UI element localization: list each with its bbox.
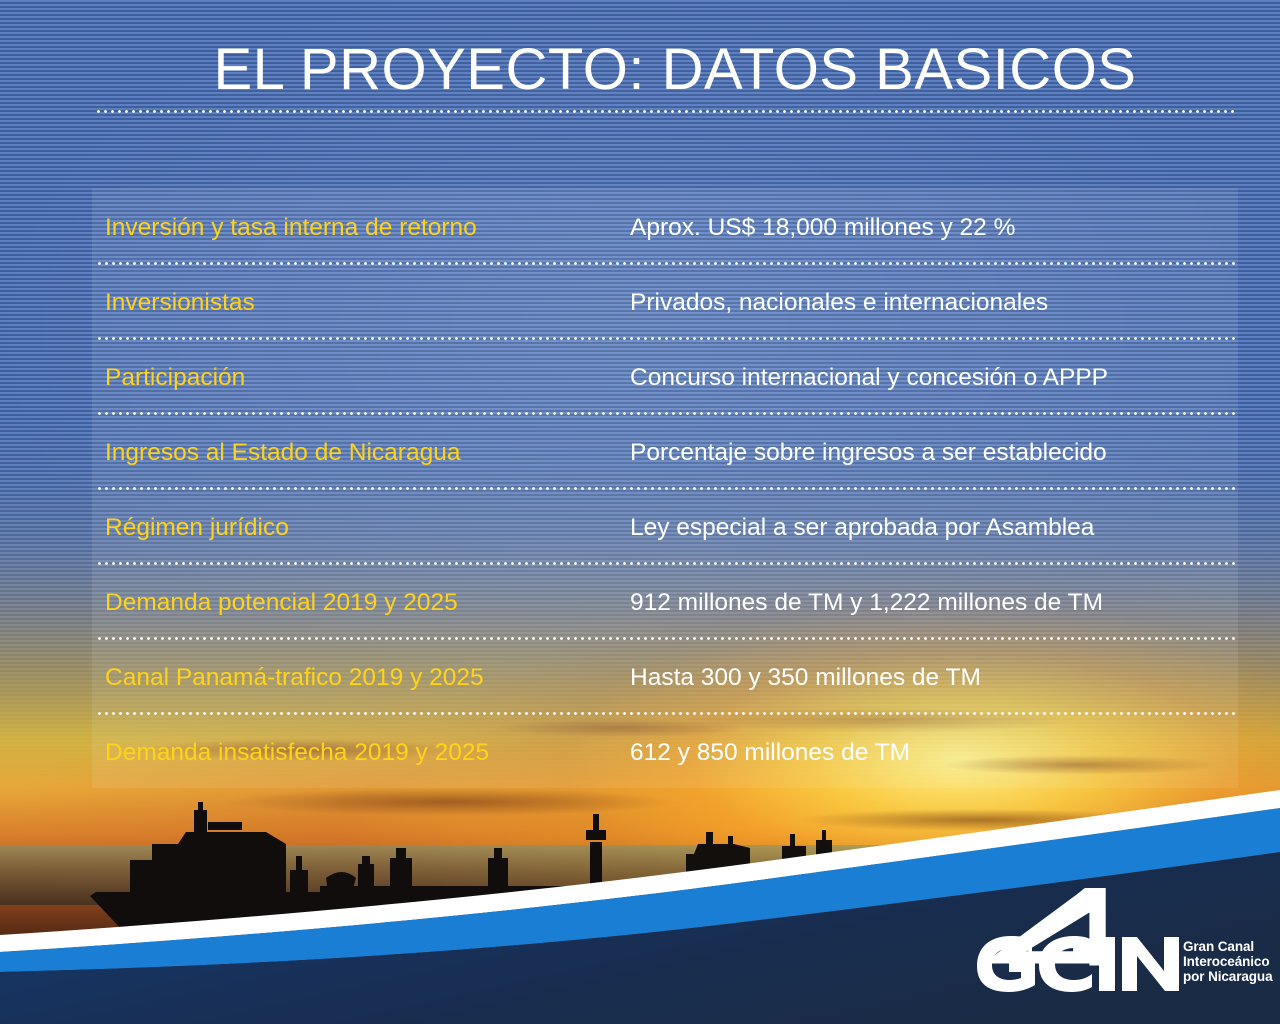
row-value: Concurso internacional y concesión o APP… [630,364,1108,392]
row-label: Demanda insatisfecha 2019 y 2025 [105,739,489,767]
table-row: Demanda insatisfecha 2019 y 2025 612 y 8… [92,715,1238,790]
page-title: EL PROYECTO: DATOS BASICOS [0,36,1280,103]
logo-tagline-line-3: por Nicaragua [1183,969,1272,984]
logo-tagline-line-2: Interoceánico [1183,954,1272,969]
table-row: Inversión y tasa interna de retorno Apro… [92,190,1238,265]
row-label: Ingresos al Estado de Nicaragua [105,439,460,467]
row-value: 912 millones de TM y 1,222 millones de T… [630,589,1103,617]
row-label: Inversionistas [105,289,255,317]
row-label: Inversión y tasa interna de retorno [105,214,477,242]
logo-tagline-line-1: Gran Canal [1183,939,1272,954]
gcin-logo: Gran Canal Interoceánico por Nicaragua [975,888,1255,992]
row-value: Aprox. US$ 18,000 millones y 22 % [630,214,1015,242]
row-value: 612 y 850 millones de TM [630,739,910,767]
presentation-slide: EL PROYECTO: DATOS BASICOS Inversión y t… [0,0,1280,1024]
row-label: Canal Panamá-trafico 2019 y 2025 [105,664,484,692]
logo-tagline: Gran Canal Interoceánico por Nicaragua [1183,939,1272,985]
table-row: Demanda potencial 2019 y 2025 912 millon… [92,565,1238,640]
table-row: Ingresos al Estado de Nicaragua Porcenta… [92,415,1238,490]
row-value: Privados, nacionales e internacionales [630,289,1048,317]
table-row: Participación Concurso internacional y c… [92,340,1238,415]
title-divider [95,110,1235,113]
table-row: Inversionistas Privados, nacionales e in… [92,265,1238,340]
row-label: Régimen jurídico [105,514,289,542]
row-label: Participación [105,364,245,392]
row-label: Demanda potencial 2019 y 2025 [105,589,458,617]
data-table: Inversión y tasa interna de retorno Apro… [92,190,1238,790]
table-row: Canal Panamá-trafico 2019 y 2025 Hasta 3… [92,640,1238,715]
row-value: Ley especial a ser aprobada por Asamblea [630,514,1094,542]
table-row: Régimen jurídico Ley especial a ser apro… [92,490,1238,565]
row-value: Porcentaje sobre ingresos a ser establec… [630,439,1107,467]
row-value: Hasta 300 y 350 millones de TM [630,664,981,692]
